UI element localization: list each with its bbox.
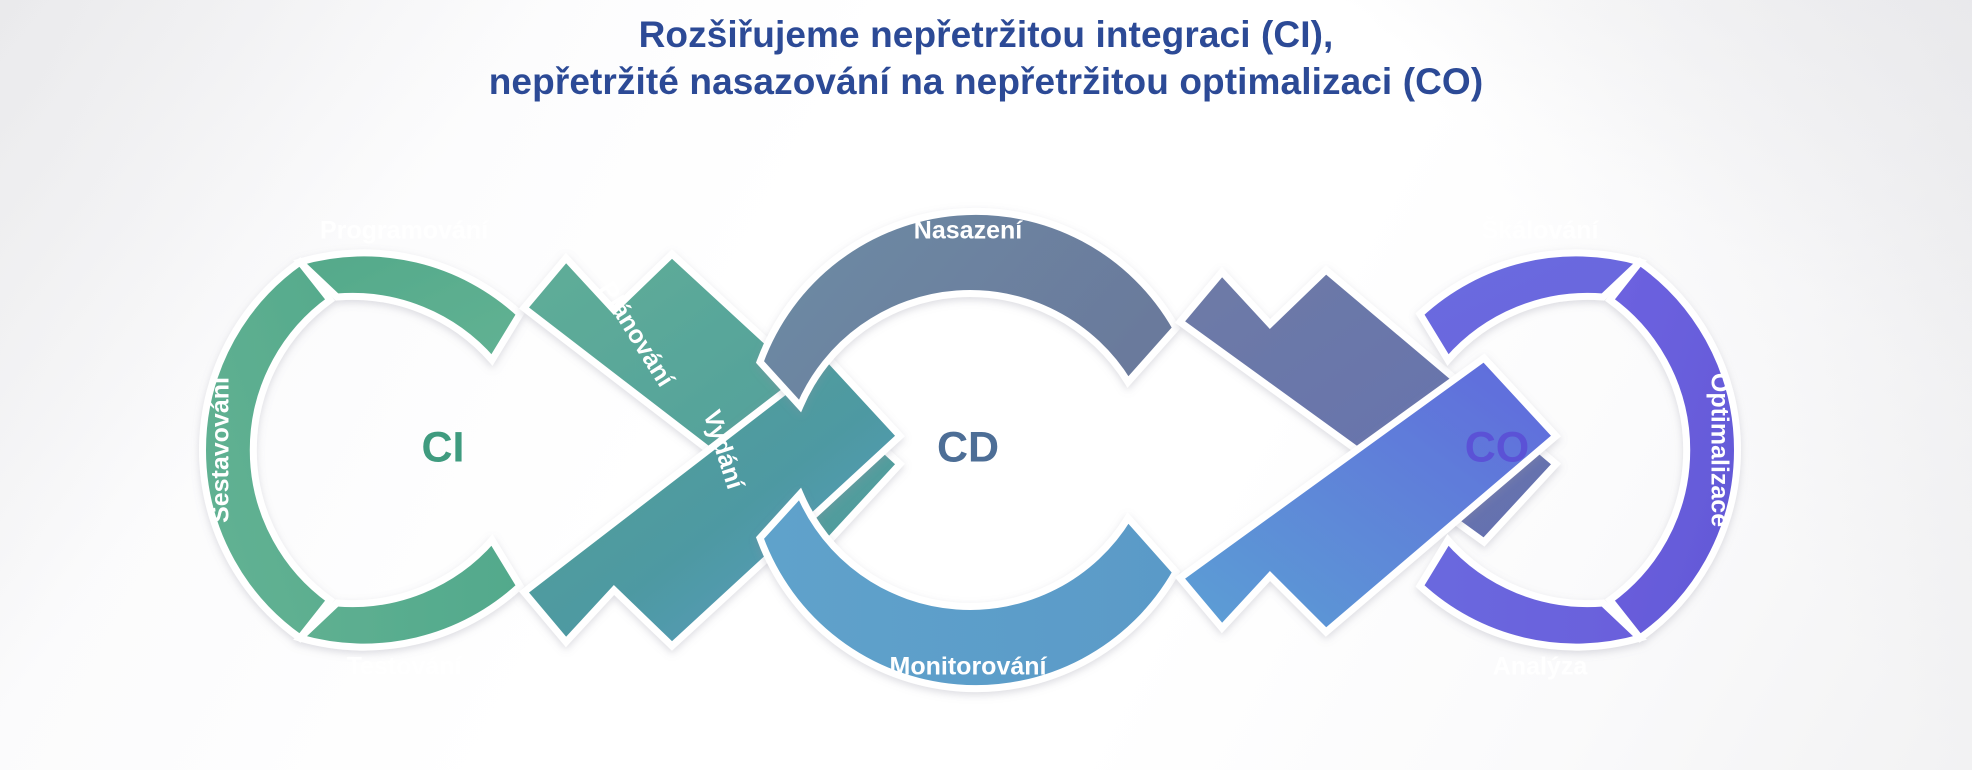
page-title: Rozšiřujeme nepřetržitou integraci (CI),… — [0, 12, 1972, 105]
segment-programovani — [300, 253, 520, 360]
hub-label-ci: CI — [422, 423, 465, 471]
label-testovani: Testování — [347, 653, 463, 681]
label-monitorovani: Monitorování — [890, 653, 1048, 681]
segment-skalovani — [1420, 253, 1640, 360]
label-optimalizace: Optimalizace — [1705, 373, 1733, 527]
hub-label-co: CO — [1465, 423, 1530, 471]
label-programovani: Programování — [320, 217, 489, 245]
label-analyza: Analýza — [1493, 653, 1589, 681]
label-provoz: Provoz — [1205, 406, 1273, 492]
slide-canvas: Rozšiřujeme nepřetržitou integraci (CI),… — [0, 0, 1972, 770]
loop-ci — [202, 253, 520, 647]
segment-testovani — [300, 540, 520, 647]
label-sestavovani: Sestavování — [207, 376, 235, 523]
label-nasazeni: Nasazení — [914, 217, 1023, 245]
title-line-2: nepřetržité nasazování na nepřetržitou o… — [0, 59, 1972, 106]
hub-label-cd: CD — [937, 423, 999, 471]
title-line-1: Rozšiřujeme nepřetržitou integraci (CI), — [0, 12, 1972, 59]
segment-analyza — [1420, 540, 1640, 647]
label-skalovani: Škálování — [1482, 215, 1600, 245]
devops-infinity-diagram: Programování Sestavování Testování Pláno… — [0, 150, 1972, 750]
